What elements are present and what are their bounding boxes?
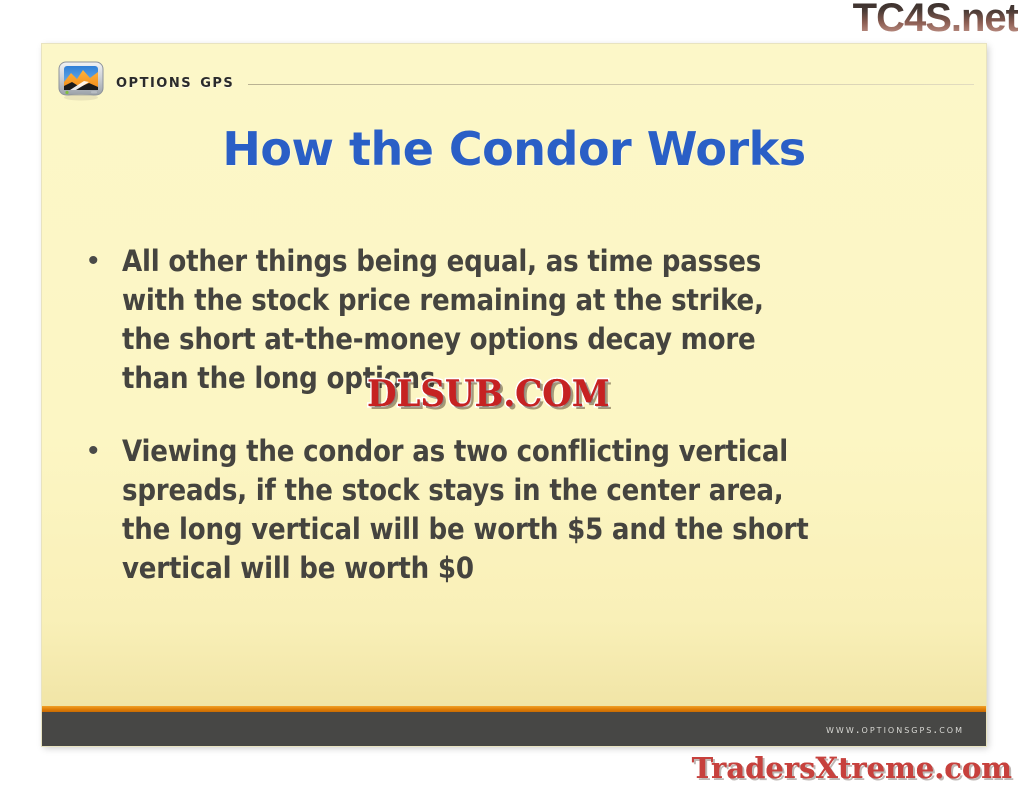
bullet-line: spreads, if the stock stays in the cente…	[122, 471, 962, 510]
footer-url: www.OptionsGPS.com	[826, 722, 964, 736]
bullet-line: Viewing the condor as two conflicting ve…	[122, 432, 962, 471]
presentation-slide: Options GPS How the Condor Works • All o…	[42, 44, 986, 746]
slide-footer-bar: www.OptionsGPS.com	[42, 712, 986, 746]
bullet-line: with the stock price remaining at the st…	[122, 281, 962, 320]
dlsub-watermark-outline: DLSUB.COM	[367, 372, 609, 415]
header-divider-rule	[248, 84, 974, 85]
bullet-text: Viewing the condor as two conflicting ve…	[122, 432, 962, 588]
bullet-line: the long vertical will be worth $5 and t…	[122, 510, 962, 549]
bullet-marker: •	[82, 242, 122, 280]
bullet-item: • Viewing the condor as two conflicting …	[82, 432, 962, 588]
tc4s-watermark: TC4S.net	[853, 0, 1018, 38]
bullet-marker: •	[82, 432, 122, 470]
gps-device-icon	[58, 60, 104, 102]
tradersxtreme-watermark-outline: TradersXtreme.com	[692, 751, 1012, 785]
bullet-line: vertical will be worth $0	[122, 549, 962, 588]
bullet-line: All other things being equal, as time pa…	[122, 242, 962, 281]
bullet-line: the short at-the-money options decay mor…	[122, 320, 962, 359]
slide-title: How the Condor Works	[42, 122, 986, 176]
bullet-list: • All other things being equal, as time …	[82, 242, 962, 622]
brand-name: Options GPS	[116, 70, 234, 92]
slide-header: Options GPS	[58, 54, 974, 108]
